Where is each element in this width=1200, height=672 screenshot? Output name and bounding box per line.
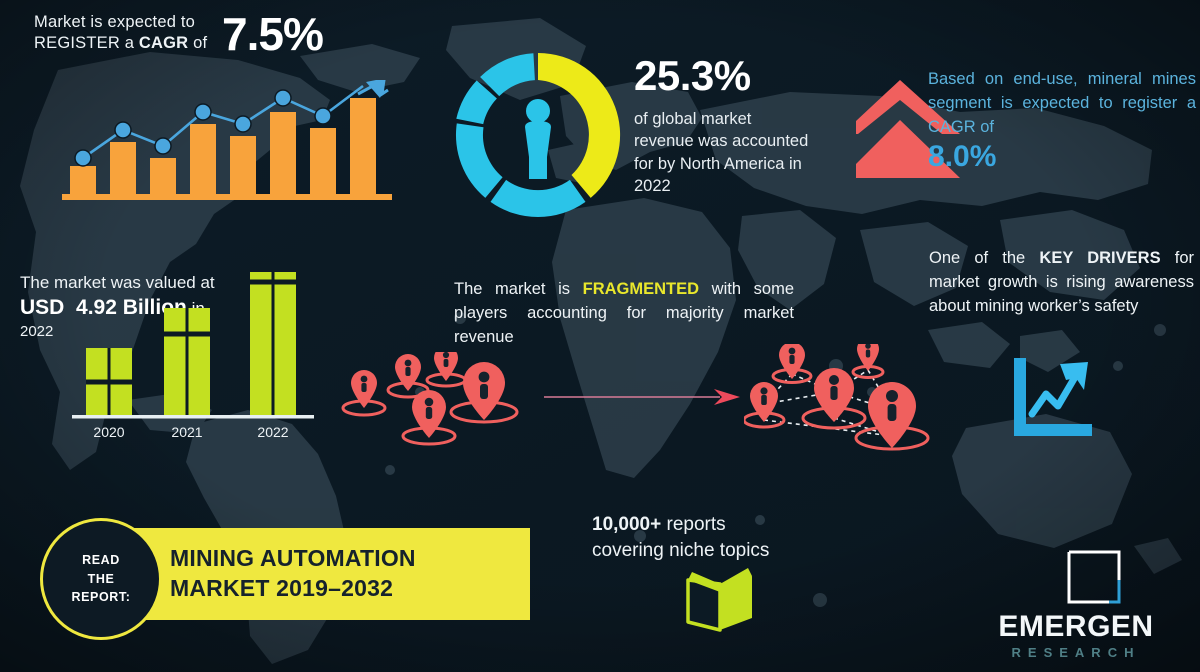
logo-brand-sub: RESEARCH: [962, 645, 1190, 660]
header-line-2: REGISTER a CAGR of: [34, 33, 249, 54]
header-line-2-post: of: [188, 34, 207, 52]
north-america-description: of global market revenue was accounted f…: [634, 108, 809, 197]
reports-line-1: 10,000+ reports: [592, 512, 822, 538]
end-use-cagr-value: 8.0%: [928, 140, 996, 174]
bar-chart-with-trend-line-icon: [62, 80, 392, 202]
right-arrow-icon: [544, 386, 744, 408]
reports-statement: 10,000+ reports covering niche topics: [592, 512, 822, 564]
market-value-usd: USD: [20, 296, 64, 319]
infographic-canvas: Market is expected to REGISTER a CAGR of…: [0, 0, 1200, 672]
emergen-square-logo-mark-icon: [1066, 549, 1122, 605]
reports-count: 10,000+: [592, 514, 661, 535]
key-drivers-pre: One of the: [929, 249, 1039, 267]
location-pin-cluster-icon: [336, 352, 536, 452]
fragmented-highlight: FRAGMENTED: [583, 280, 699, 298]
north-america-percent: 25.3%: [634, 52, 751, 100]
report-banner-title: MINING AUTOMATION MARKET 2019–2032: [170, 543, 530, 604]
donut-chart-with-person-icon: [447, 44, 629, 226]
header-line-1: Market is expected to: [34, 12, 249, 33]
end-use-caption: Based on end-use, mineral mines segment …: [928, 68, 1196, 140]
market-value-bar-chart: 2020 2021 2022: [62, 272, 322, 440]
logo-brand-name: EMERGEN: [962, 610, 1190, 644]
key-drivers-highlight: KEY DRIVERS: [1039, 249, 1160, 267]
market-value-year: 2022: [20, 322, 53, 341]
connected-location-pin-network-icon: [744, 344, 930, 456]
header-cagr-word: CAGR: [139, 34, 188, 52]
green-bar-label-2020: 2020: [93, 424, 124, 440]
green-bar-label-2021: 2021: [171, 424, 202, 440]
open-book-icon: [684, 568, 756, 634]
green-bar-label-2022: 2022: [257, 424, 288, 440]
header-line-2-pre: REGISTER a: [34, 34, 139, 52]
report-title-line-2: MARKET 2019–2032: [170, 573, 530, 603]
fragmented-statement: The market is FRAGMENTED with some playe…: [454, 278, 794, 350]
growth-chart-arrow-icon: [1008, 356, 1094, 442]
report-title-line-1: MINING AUTOMATION: [170, 543, 530, 573]
reports-label: reports: [661, 514, 725, 535]
fragmented-pre: The market is: [454, 280, 583, 298]
key-drivers-statement: One of the KEY DRIVERS for market growth…: [929, 247, 1194, 319]
read-the-report-label: READTHEREPORT:: [71, 551, 130, 607]
header-cagr-value: 7.5%: [222, 7, 323, 61]
header-caption: Market is expected to REGISTER a CAGR of: [34, 12, 249, 54]
reports-line-2: covering niche topics: [592, 538, 822, 564]
read-the-report-badge[interactable]: READTHEREPORT:: [40, 518, 162, 640]
